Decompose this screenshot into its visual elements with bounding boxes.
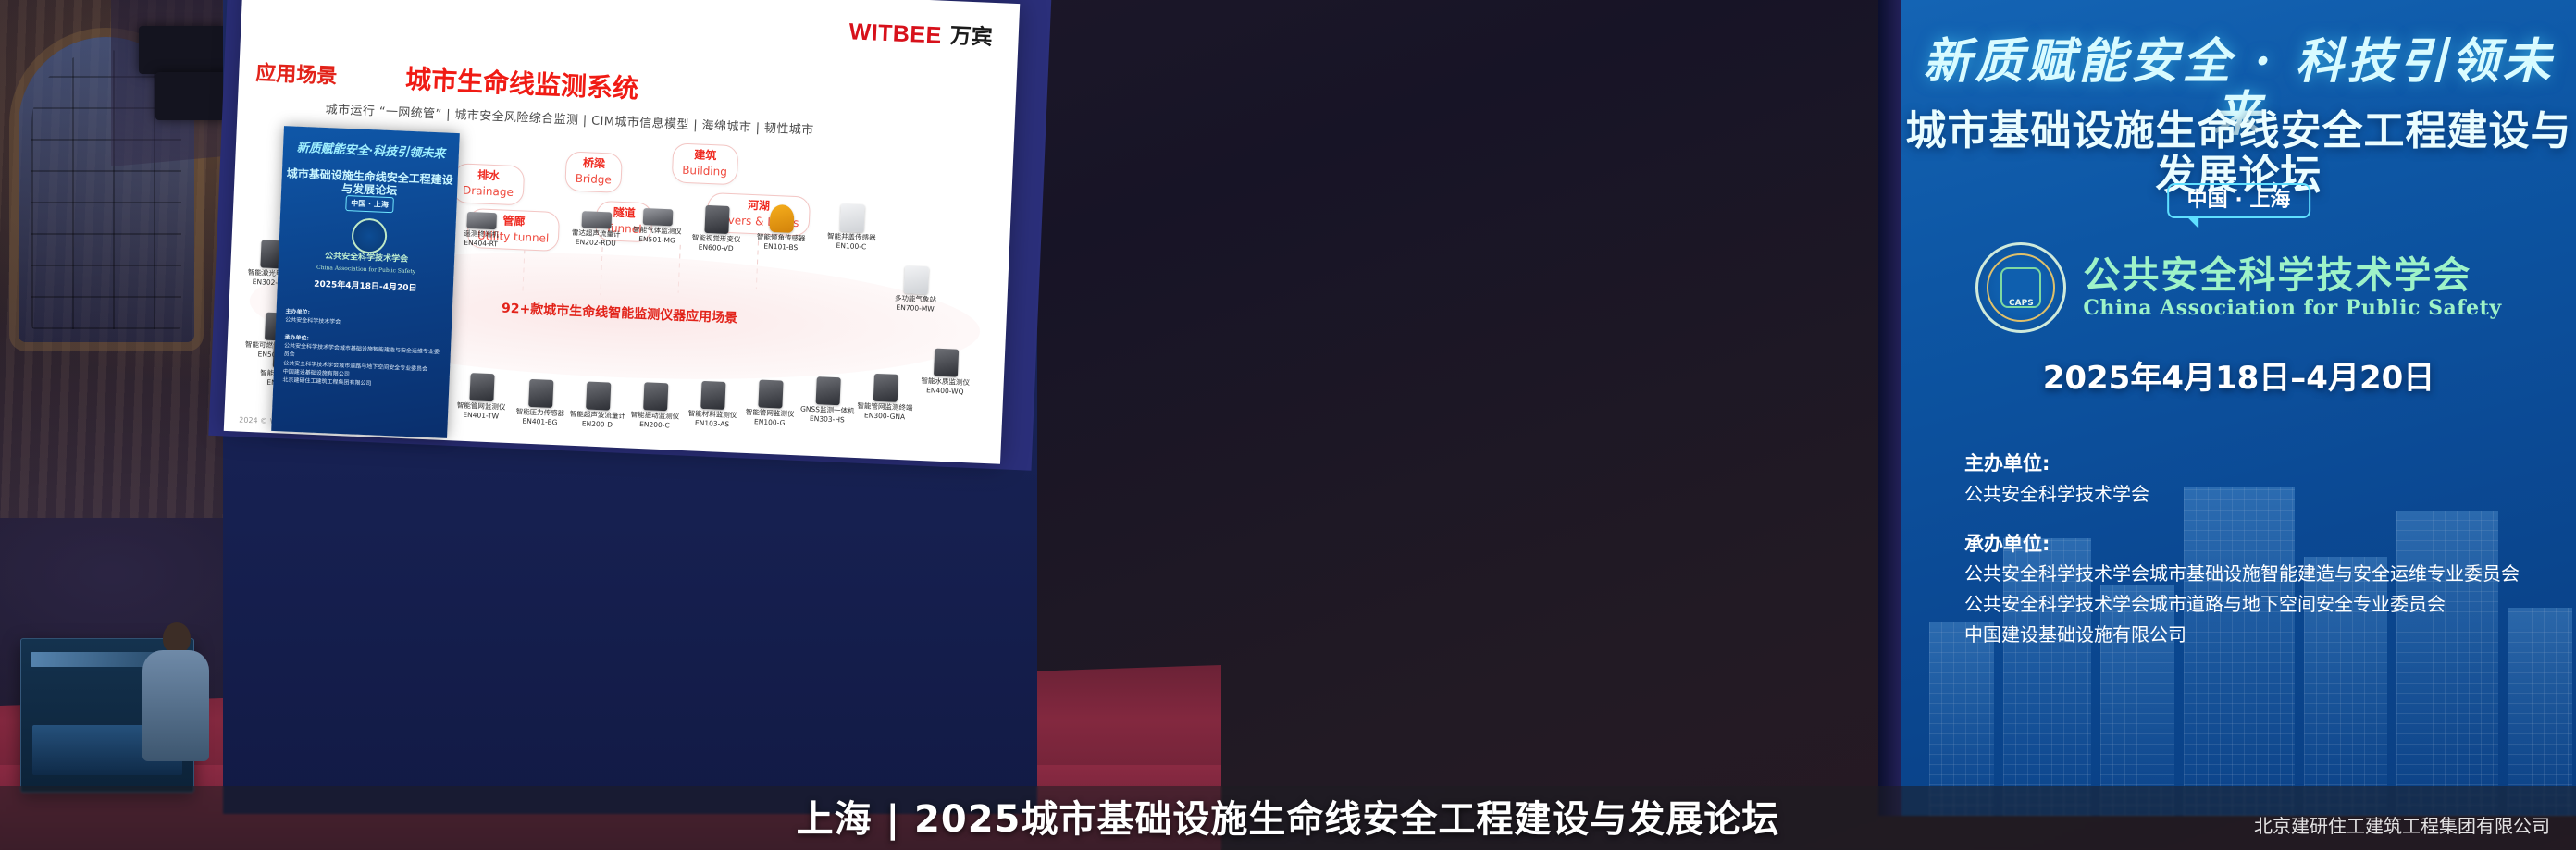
poster-organizer-item: 公共安全科学技术学会城市道路与地下空间安全专业委员会: [1964, 589, 2548, 620]
device-icon: [643, 208, 674, 226]
side-organizer-item: 公共安全科学技术学会城市基础设施智能建造与安全运维专业委员会: [283, 343, 440, 359]
poster-organizer-item: 中国建设基础设施有限公司: [1964, 620, 2548, 650]
device-icon: [581, 211, 612, 228]
scene-pill-cn: 排水: [463, 169, 514, 184]
scene-pill: 排水 Drainage: [452, 163, 526, 205]
side-organizer-label: 承办单位:: [284, 334, 309, 341]
scene-pill: 桥梁 Bridge: [564, 151, 623, 193]
poster-organization-cn: 公共安全科学技术学会: [2083, 255, 2501, 296]
device-icon: [816, 376, 841, 405]
presenter: [139, 622, 211, 761]
brand-latin: WITBEE: [848, 20, 942, 47]
device-item: 智能水质监测仪 EN400-WQ: [907, 347, 985, 396]
witbee-logo: WITBEE 万宾: [848, 20, 993, 50]
side-script-line: 新质赋能安全·科技引领未来: [291, 141, 452, 162]
poster-organization-en: China Association for Public Safety: [2083, 296, 2501, 320]
side-led-panel: 新质赋能安全·科技引领未来 城市基础设施生命线安全工程建设与发展论坛 中国 · …: [271, 126, 460, 438]
conference-photo: WITBEE 万宾 应用场景 城市生命线监测系统 城市运行 “一网统管” | 城…: [0, 0, 2576, 850]
side-emblem-icon: [351, 217, 388, 254]
side-date: 2025年4月18日-4月20日: [281, 279, 450, 295]
poster-location-chip: 中国 · 上海: [2167, 183, 2311, 218]
device-icon: [873, 374, 898, 402]
scene-pill-cn: 建筑: [683, 149, 728, 164]
side-organizer-item: 北京建研住工建筑工程集团有限公司: [282, 377, 371, 388]
side-credits: 主办单位: 公共安全科学技术学会 承办单位: 公共安全科学技术学会城市基础设施智…: [282, 307, 444, 391]
slide-section-label: 应用场景: [255, 64, 338, 88]
caption-bar: 上海 | 2025城市基础设施生命线安全工程建设与发展论坛: [0, 786, 2576, 850]
scene-pill-en: Bridge: [575, 172, 612, 187]
device-icon: [769, 204, 794, 233]
poster-edge: [1878, 0, 1904, 816]
device-item: 多功能气象站 EN700-MW: [877, 265, 955, 314]
device-icon: [934, 349, 959, 377]
caption-watermark: 北京建研住工建筑工程集团有限公司: [2254, 815, 2550, 837]
caption-title: 上海 | 2025城市基础设施生命线安全工程建设与发展论坛: [0, 798, 2576, 841]
line-array-speaker: [139, 26, 228, 74]
poster-credits: 主办单位: 公共安全科学技术学会 承办单位: 公共安全科学技术学会城市基础设施智…: [1964, 450, 2548, 650]
side-location-chip: 中国 · 上海: [345, 195, 394, 213]
device-icon: [904, 265, 929, 294]
device-icon: [840, 203, 865, 232]
device-icon: [643, 382, 668, 411]
device-icon: [586, 382, 611, 411]
caps-emblem-icon: CAPS: [1975, 242, 2066, 333]
scene-pill-cn: 桥梁: [576, 157, 613, 171]
poster-organizer-item: 公共安全科学技术学会城市基础设施智能建造与安全运维专业委员会: [1964, 559, 2548, 589]
poster-organizer-label: 承办单位:: [1964, 530, 2548, 560]
slide-title: 城市生命线监测系统: [405, 67, 639, 103]
presenter-head: [163, 622, 191, 654]
device-icon: [466, 212, 497, 229]
emblem-abbr: CAPS: [1978, 300, 2063, 308]
scene-pill-en: Building: [682, 164, 727, 179]
device-icon: [704, 205, 729, 234]
event-poster-panel: 新质赋能安全 · 科技引领未来 城市基础设施生命线安全工程建设与发展论坛 中国 …: [1901, 0, 2576, 816]
device-icon: [528, 379, 553, 408]
side-host-item: 公共安全科学技术学会: [285, 317, 341, 326]
brand-cn: 万宾: [949, 26, 993, 49]
device-icon: [700, 381, 725, 410]
device-item: 智能井盖传感器 EN100-C: [813, 203, 891, 252]
poster-organization-text: 公共安全科学技术学会 China Association for Public …: [2083, 255, 2501, 320]
device-icon: [758, 380, 783, 409]
presenter-body: [142, 650, 209, 761]
poster-host-item: 公共安全科学技术学会: [1964, 479, 2548, 510]
side-host-label: 主办单位:: [285, 308, 310, 315]
poster-date: 2025年4月18日–4月20日: [1901, 363, 2576, 394]
poster-organization-row: CAPS 公共安全科学技术学会 China Association for Pu…: [1901, 242, 2576, 333]
device-icon: [469, 373, 494, 401]
scene-pill: 建筑 Building: [672, 142, 738, 185]
device-item: 智能倾角传感器 EN101-BS: [743, 203, 821, 253]
scene-pill-en: Drainage: [463, 183, 514, 199]
poster-host-label: 主办单位:: [1964, 450, 2548, 479]
